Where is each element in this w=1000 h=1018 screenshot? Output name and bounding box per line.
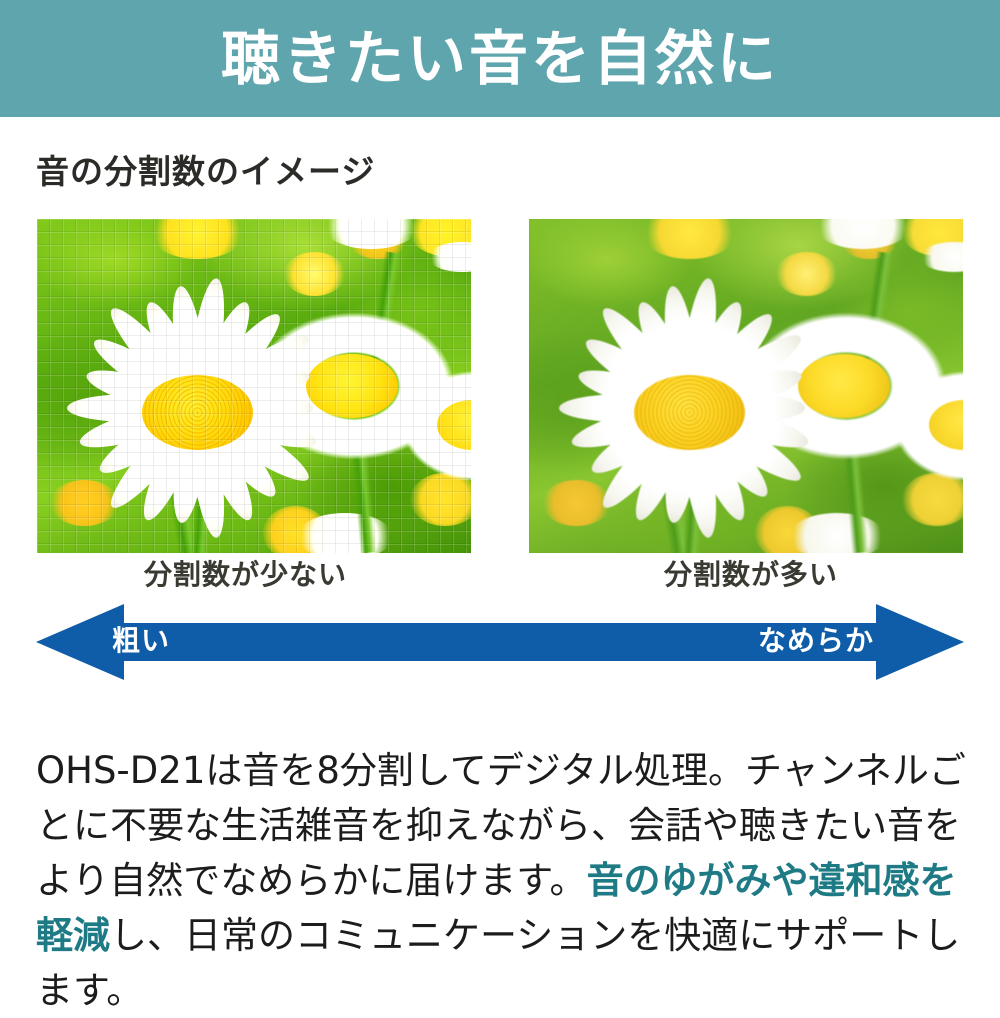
background-petal-mass-icon [789, 513, 884, 553]
caption-coarse: 分割数が少ない [144, 561, 347, 589]
daisy-center [634, 375, 745, 450]
daisy-center [142, 375, 253, 450]
main-daisy-icon [564, 319, 816, 506]
daisy-scene-smooth [529, 219, 963, 553]
arrow-label-coarse: 粗い [112, 623, 170, 659]
comparison-image-coarse [37, 219, 471, 553]
daisy-scene-coarse [37, 219, 471, 553]
section-heading: 音の分割数のイメージ [36, 155, 375, 188]
tertiary-daisy-icon [894, 366, 963, 486]
arrow-label-smooth: なめらか [758, 623, 874, 659]
tertiary-daisy-icon [402, 366, 471, 486]
background-blossom-icon [776, 252, 837, 295]
header-band: 聴きたい音を自然に [0, 0, 1000, 117]
main-daisy-icon [72, 319, 324, 506]
body-paragraph: OHS-D21は音を8分割してデジタル処理。チャンネルごとに不要な生活雑音を抑え… [36, 743, 976, 1018]
caption-smooth: 分割数が多い [664, 561, 838, 589]
comparison-image-smooth [529, 219, 963, 553]
body-text-part2: し、日常のコミュニケーションを快適にサポートします。 [36, 914, 960, 1012]
page-title: 聴きたい音を自然に [221, 29, 779, 88]
background-petal-mass-icon [297, 513, 392, 553]
background-blossom-icon [284, 252, 345, 295]
